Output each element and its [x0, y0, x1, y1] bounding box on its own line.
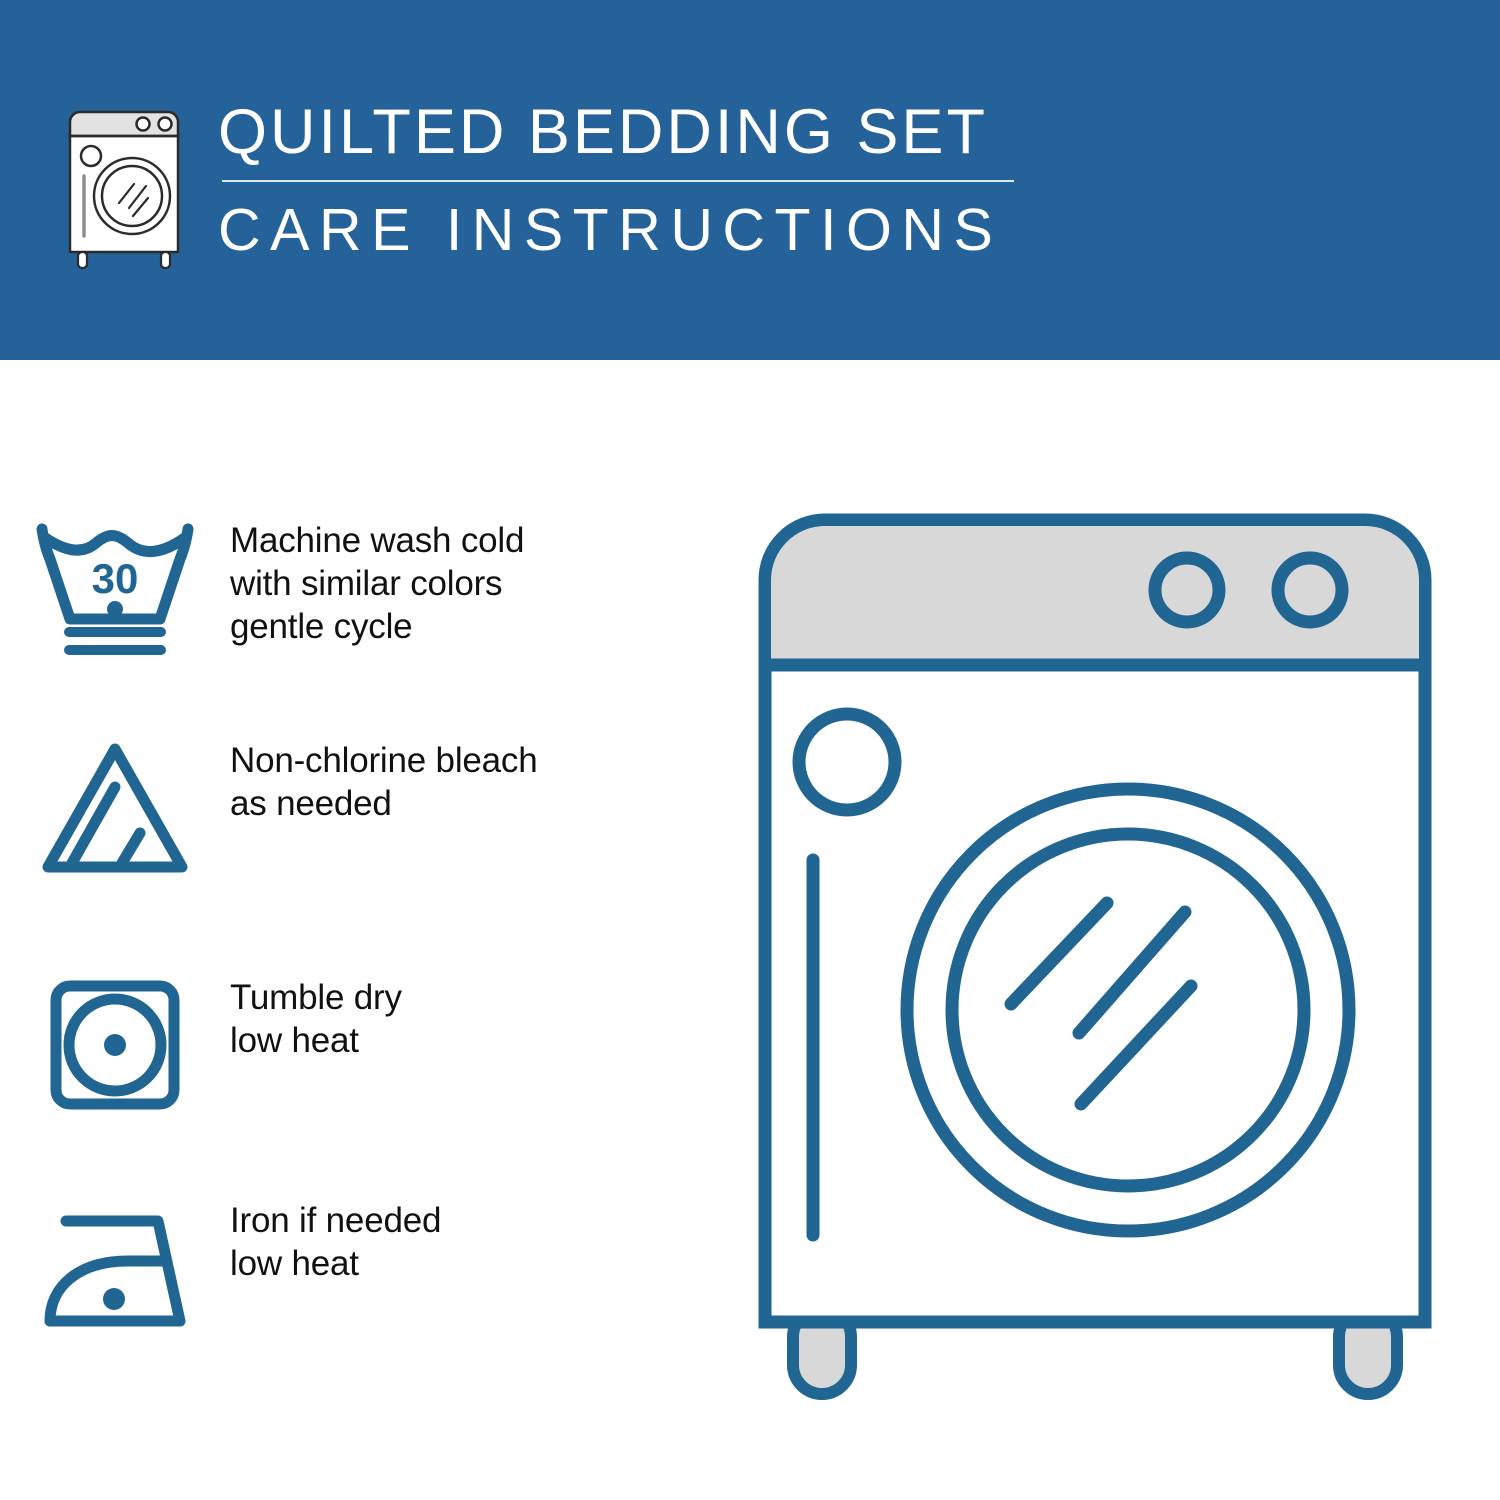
care-instruction-list: 30 Machine wash cold with similar colors…	[0, 360, 720, 1500]
wash-temperature-value: 30	[92, 555, 139, 602]
care-instructions-page: QUILTED BEDDING SET CARE INSTRUCTIONS 30	[0, 0, 1500, 1500]
care-row-tumble-dry: Tumble dry low heat	[0, 972, 700, 1122]
care-row-machine-wash: 30 Machine wash cold with similar colors…	[0, 515, 700, 665]
header-text-block: QUILTED BEDDING SET CARE INSTRUCTIONS	[218, 96, 1018, 262]
header-banner: QUILTED BEDDING SET CARE INSTRUCTIONS	[0, 0, 1500, 360]
control-knob-right	[1278, 558, 1342, 622]
care-label-iron: Iron if needed low heat	[230, 1195, 700, 1285]
page-title: QUILTED BEDDING SET	[218, 96, 1018, 168]
title-divider	[222, 180, 1014, 182]
care-row-iron: Iron if needed low heat	[0, 1195, 700, 1345]
iron-low-heat-icon	[0, 1195, 230, 1345]
wash-tub-30-gentle-icon: 30	[0, 515, 230, 665]
page-subtitle: CARE INSTRUCTIONS	[218, 198, 1018, 262]
control-knob-left	[1155, 558, 1219, 622]
tumble-dry-low-heat-icon	[0, 972, 230, 1122]
care-row-bleach: Non-chlorine bleach as needed	[0, 735, 700, 885]
care-label-tumble-dry: Tumble dry low heat	[230, 972, 700, 1062]
washing-machine-icon	[62, 104, 192, 272]
indicator-circle	[799, 714, 895, 810]
care-label-machine-wash: Machine wash cold with similar colors ge…	[230, 515, 700, 648]
washing-machine-illustration	[735, 490, 1455, 1420]
drum-inner-ring	[952, 834, 1304, 1186]
non-chlorine-bleach-triangle-icon	[0, 735, 230, 885]
care-label-bleach: Non-chlorine bleach as needed	[230, 735, 700, 825]
